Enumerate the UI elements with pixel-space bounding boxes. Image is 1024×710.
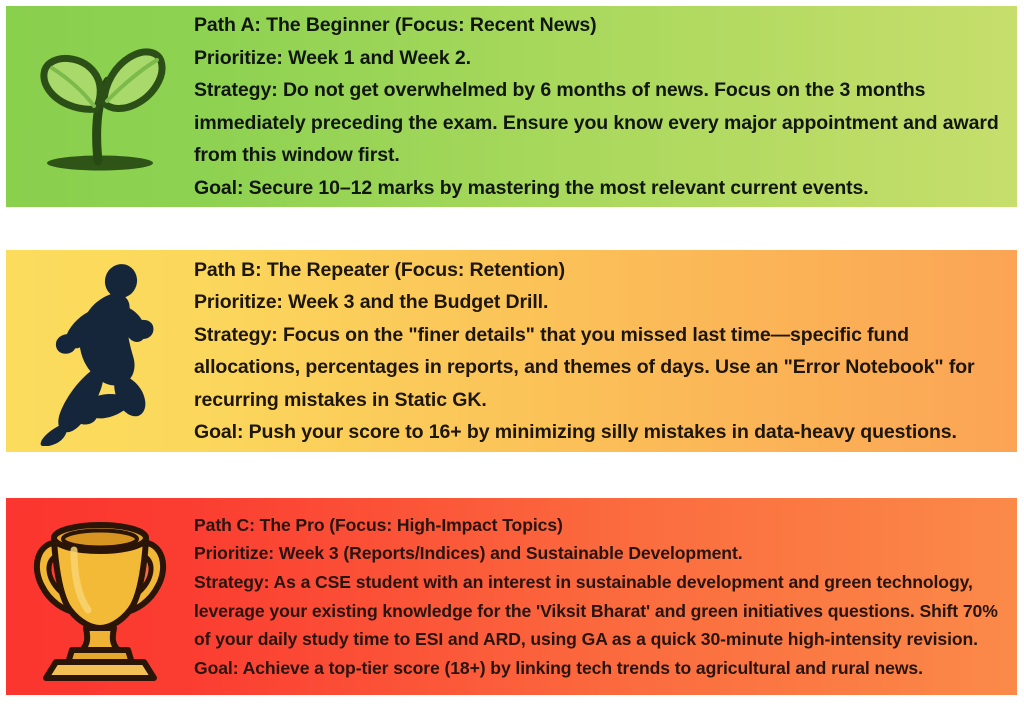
path-c-panel: Path C: The Pro (Focus: High-Impact Topi… — [6, 498, 1017, 695]
path-c-heading: Path C: The Pro (Focus: High-Impact Topi… — [194, 511, 1007, 540]
path-a-text-block: Path A: The Beginner (Focus: Recent News… — [194, 9, 1017, 204]
path-b-heading: Path B: The Repeater (Focus: Retention) — [194, 254, 1007, 287]
path-a-goal: Goal: Secure 10–12 marks by mastering th… — [194, 172, 1007, 205]
path-c-text-block: Path C: The Pro (Focus: High-Impact Topi… — [194, 511, 1017, 683]
path-b-strategy: Strategy: Focus on the "finer details" t… — [194, 319, 1007, 417]
path-c-prioritize: Prioritize: Week 3 (Reports/Indices) and… — [194, 539, 1007, 568]
path-a-heading: Path A: The Beginner (Focus: Recent News… — [194, 9, 1007, 42]
path-a-strategy: Strategy: Do not get overwhelmed by 6 mo… — [194, 74, 1007, 172]
path-a-panel: Path A: The Beginner (Focus: Recent News… — [6, 6, 1017, 207]
path-c-goal: Goal: Achieve a top-tier score (18+) by … — [194, 654, 1007, 683]
infographic-sheet: Path A: The Beginner (Focus: Recent News… — [0, 0, 1024, 710]
running-man-icon — [6, 256, 194, 446]
trophy-icon — [6, 509, 194, 684]
seedling-plant-icon — [6, 37, 194, 177]
path-b-panel: Path B: The Repeater (Focus: Retention) … — [6, 250, 1017, 452]
path-c-strategy: Strategy: As a CSE student with an inter… — [194, 568, 1007, 654]
path-a-prioritize: Prioritize: Week 1 and Week 2. — [194, 42, 1007, 75]
path-b-prioritize: Prioritize: Week 3 and the Budget Drill. — [194, 286, 1007, 319]
path-b-goal: Goal: Push your score to 16+ by minimizi… — [194, 416, 1007, 449]
path-b-text-block: Path B: The Repeater (Focus: Retention) … — [194, 254, 1017, 449]
